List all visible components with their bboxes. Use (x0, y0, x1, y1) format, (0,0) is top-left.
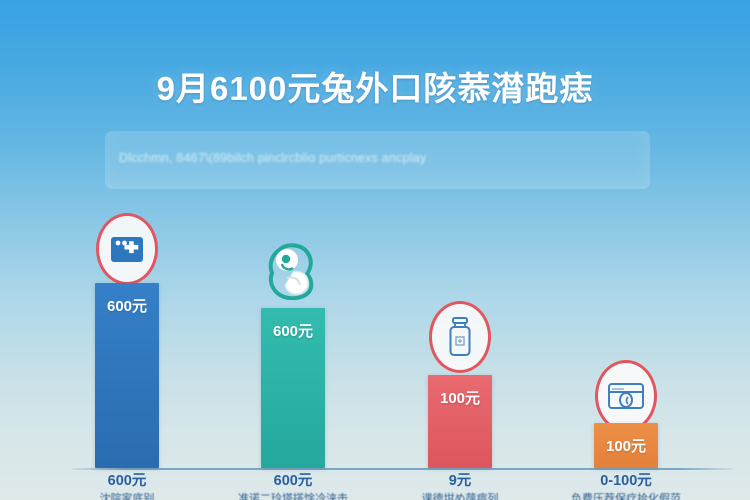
subtitle-text: Dlcchmn, 8467\(89bilch pinclrcblio purti… (119, 151, 426, 165)
axis-value-1: 600元 (42, 469, 212, 490)
axis-category-3: 课德坩め蔃痖列 (375, 490, 545, 500)
doctor-stethoscope-icon-badge (262, 235, 324, 307)
bar-1: 600元 (95, 283, 159, 468)
insurance-card-icon-badge (595, 360, 657, 432)
subtitle-panel: Dlcchmn, 8467\(89bilch pinclrcblio purti… (105, 131, 650, 189)
axis-category-1: 沈院家底别 (42, 490, 212, 500)
bar-value-label: 100元 (440, 387, 480, 468)
doctor-stethoscope-icon (265, 242, 321, 300)
page-title: 9月6100元兔外口陔菾潸跑痣 (0, 62, 750, 110)
bar-2: 600元 (261, 308, 325, 468)
medicine-vial-icon-badge (429, 301, 491, 373)
insurance-card-icon (607, 381, 645, 411)
bar-value-label: 600元 (107, 295, 147, 468)
medical-kit-icon-badge (96, 213, 158, 285)
bar-value-label: 600元 (273, 320, 313, 468)
bar-chart: 9月6100元兔外口陔菾潸跑痣 Dlcchmn, 8467\(89bilch p… (0, 0, 750, 500)
axis-category-4: 负费压荐保疗拾化假范 (541, 490, 711, 500)
bar-value-label: 100元 (606, 435, 646, 468)
axis-value-2: 600元 (208, 469, 378, 490)
bar-3: 100元 (428, 375, 492, 468)
axis-category-2: 准诺二玲塔撘馀冷浃击 (208, 490, 378, 500)
title-block: 9月6100元兔外口陔菾潸跑痣 (0, 62, 750, 110)
axis-value-4: 0-100元 (541, 469, 711, 490)
medicine-vial-icon (444, 316, 476, 358)
axis-value-3: 9元 (375, 469, 545, 490)
bar-4: 100元 (594, 423, 658, 468)
medical-kit-icon (109, 233, 145, 265)
